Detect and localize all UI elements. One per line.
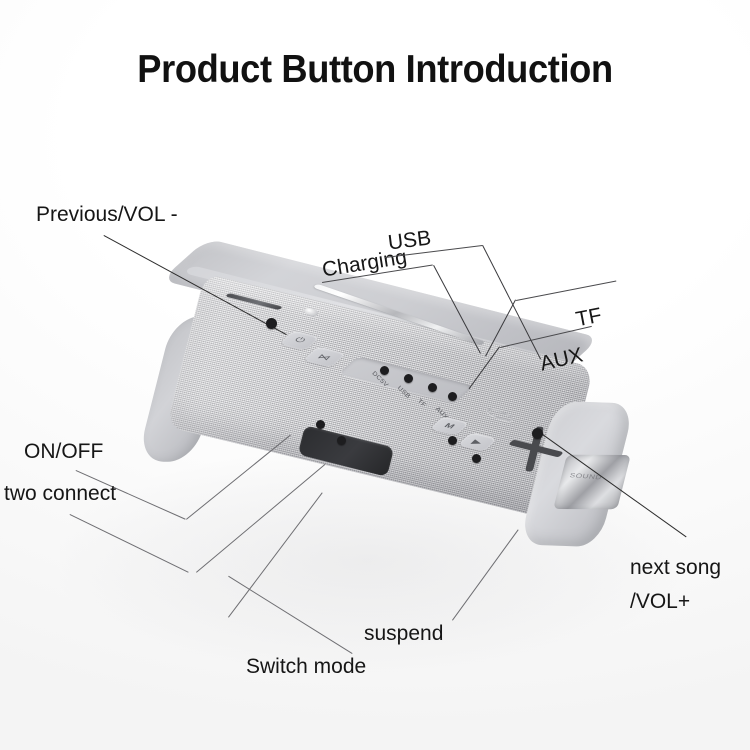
callout-label-next-song: next song [630, 556, 721, 580]
callout-dot-usb [404, 374, 413, 383]
callout-dot-tf [428, 383, 437, 392]
callout-dot-previous-vol-minus [266, 318, 277, 329]
diagram-canvas: Product Button Introduction SOUND ⏻ ⋈ DC… [0, 0, 750, 750]
callout-dot-aux [448, 392, 457, 401]
speaker-body: SOUND ⏻ ⋈ DC5V USB TF AUX M ▶ [118, 258, 638, 598]
page-title: Product Button Introduction [26, 48, 724, 92]
callout-dot-suspend [472, 454, 481, 463]
callout-label-on-off: ON/OFF [24, 440, 103, 464]
callout-label-suspend: suspend [364, 622, 443, 646]
callout-label-vol-plus: /VOL+ [630, 590, 690, 614]
callout-dot-next-song [532, 428, 543, 439]
callout-dot-two-connect [337, 436, 346, 445]
callout-dot-on-off [316, 420, 325, 429]
callout-label-two-connect: two connect [4, 482, 116, 506]
callout-label-previous-vol-minus: Previous/VOL - [36, 203, 178, 227]
product-illustration: SOUND ⏻ ⋈ DC5V USB TF AUX M ▶ [118, 258, 638, 598]
speaker-side-panel [553, 455, 631, 510]
callout-dot-switch-mode [448, 436, 457, 445]
callout-label-switch-mode: Switch mode [246, 655, 366, 679]
callout-dot-charging [380, 366, 389, 375]
